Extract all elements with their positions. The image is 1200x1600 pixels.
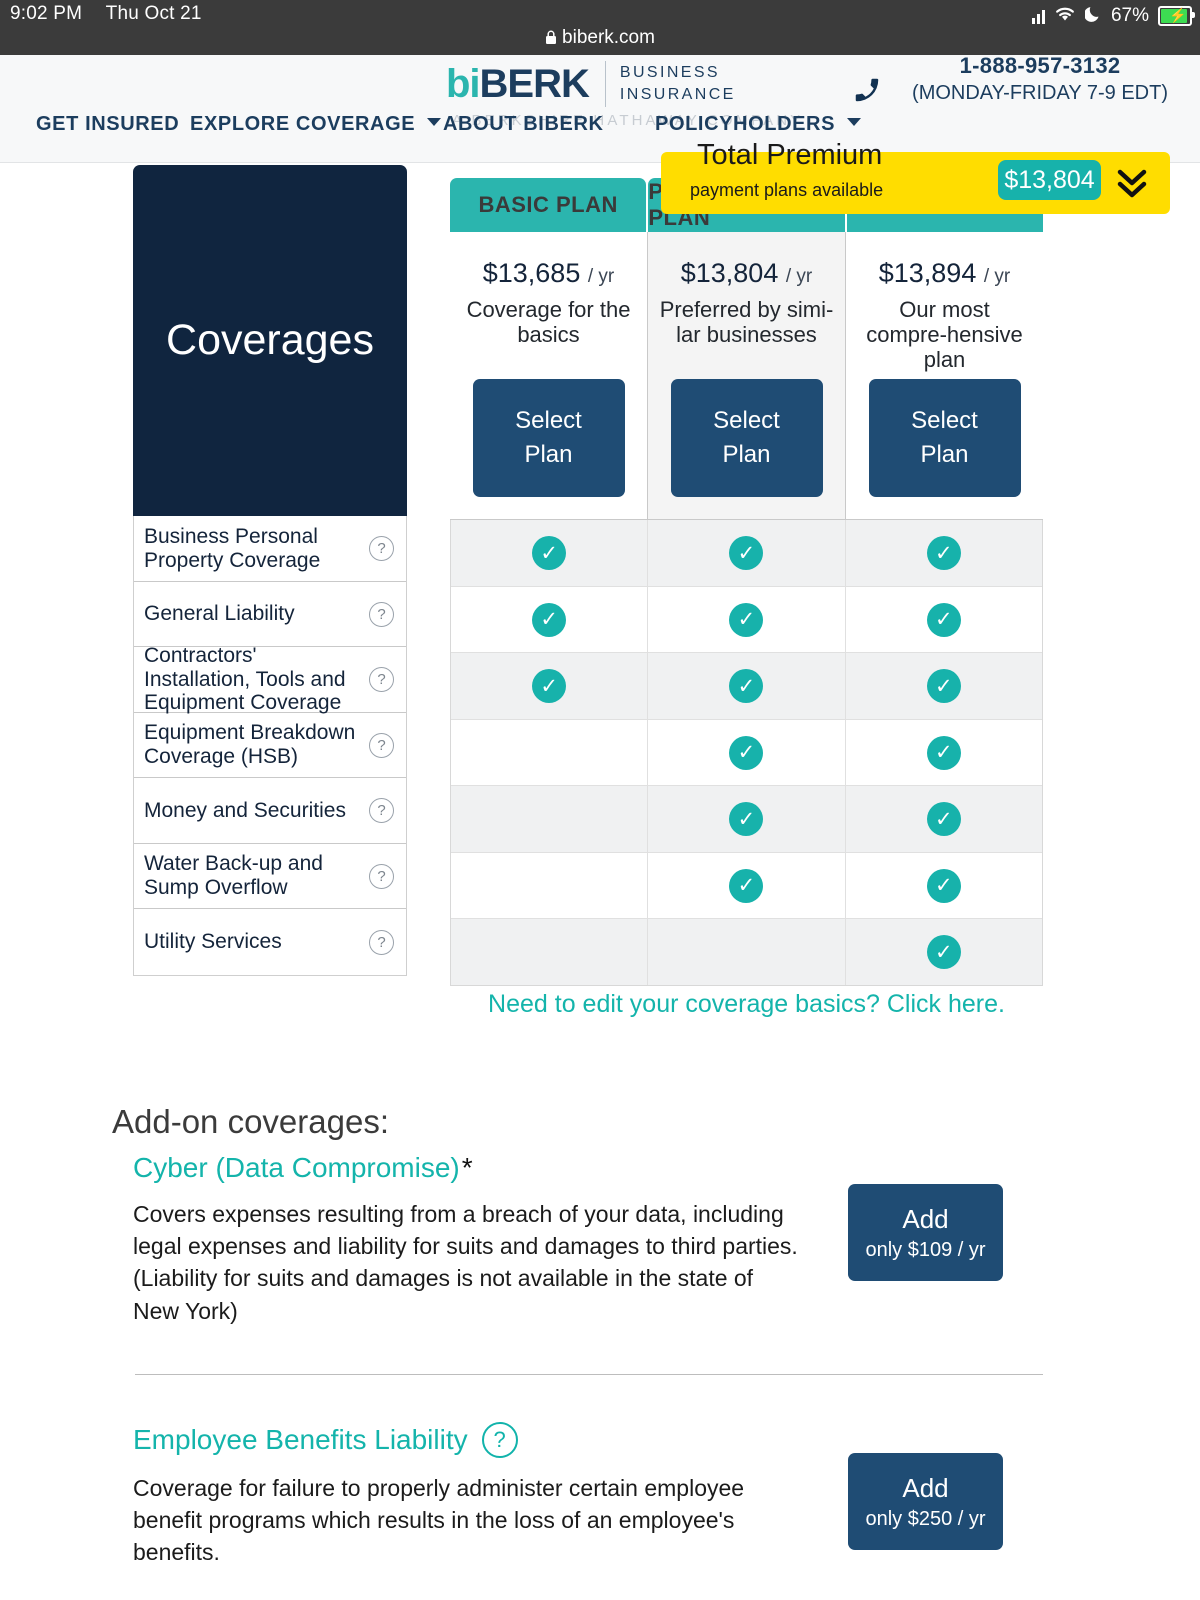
plan-comparison-table: BASIC PLAN PREFERRED PLAN ELITE PLAN $13… bbox=[450, 178, 1043, 986]
addon-employee-benefits-add-price: only $250 / yr bbox=[865, 1508, 985, 1531]
total-premium-title: Total Premium bbox=[697, 139, 882, 172]
logo-berk-text: BERK bbox=[480, 62, 589, 107]
coverage-label: Business Personal Property Coverage bbox=[144, 525, 369, 572]
select-plan-preferred-button[interactable]: Select Plan bbox=[671, 379, 823, 497]
total-premium-subtitle: payment plans available bbox=[690, 180, 883, 201]
chevron-down-icon bbox=[847, 118, 861, 126]
check-icon: ✓ bbox=[927, 802, 961, 836]
coverage-check-cell bbox=[451, 853, 648, 918]
coverage-check-cell: ✓ bbox=[648, 853, 845, 918]
addon-divider bbox=[135, 1374, 1043, 1375]
check-icon: ✓ bbox=[927, 869, 961, 903]
coverage-label: Contractors' Installation, Tools and Equ… bbox=[144, 644, 369, 715]
check-icon: ✓ bbox=[927, 603, 961, 637]
address-bar-url: biberk.com bbox=[562, 27, 655, 48]
check-icon: ✓ bbox=[927, 736, 961, 770]
question-circle-icon[interactable]: ? bbox=[369, 602, 394, 627]
coverage-check-cell: ✓ bbox=[648, 587, 845, 652]
addon-cyber-description: Covers expenses resulting from a breach … bbox=[133, 1198, 803, 1327]
logo-bi-text: bi bbox=[446, 62, 480, 107]
check-icon: ✓ bbox=[532, 536, 566, 570]
plan-price-preferred: $13,804 / yr bbox=[681, 258, 813, 289]
coverage-check-cell: ✓ bbox=[846, 587, 1042, 652]
coverage-check-cell bbox=[451, 786, 648, 852]
lock-icon bbox=[545, 29, 557, 51]
addon-cyber-add-button[interactable]: Add only $109 / yr bbox=[848, 1184, 1003, 1281]
table-row: ✓✓✓ bbox=[451, 520, 1042, 587]
coverage-label: Utility Services bbox=[144, 930, 369, 954]
coverage-label-row: Business Personal Property Coverage? bbox=[134, 516, 406, 582]
total-premium-banner[interactable]: Total Premium payment plans available $1… bbox=[661, 152, 1170, 214]
battery-percent: 67% bbox=[1111, 5, 1149, 27]
nav-item-policyholders-label: POLICYHOLDERS bbox=[655, 113, 835, 135]
signal-bars-icon bbox=[1032, 8, 1045, 24]
nav-item-policyholders[interactable]: POLICYHOLDERS bbox=[655, 113, 861, 136]
coverages-panel: Coverages bbox=[133, 165, 407, 516]
plan-price-preferred-period: / yr bbox=[786, 266, 812, 287]
addon-cyber-name: Cyber (Data Compromise) bbox=[133, 1152, 460, 1184]
table-row: ✓✓ bbox=[451, 853, 1042, 919]
coverage-label-row: Equipment Breakdown Coverage (HSB)? bbox=[134, 713, 406, 778]
coverage-label: Money and Securities bbox=[144, 799, 369, 823]
plan-price-preferred-value: $13,804 bbox=[681, 258, 779, 288]
plan-header-basic[interactable]: BASIC PLAN bbox=[450, 178, 646, 232]
biberk-logo[interactable]: biBERK BUSINESS INSURANCE bbox=[446, 61, 736, 107]
nav-item-about-biberk[interactable]: ABOUT BIBERK bbox=[443, 113, 604, 136]
question-circle-icon[interactable]: ? bbox=[369, 864, 394, 889]
coverage-label: General Liability bbox=[144, 602, 369, 626]
check-icon: ✓ bbox=[927, 536, 961, 570]
coverage-check-cell: ✓ bbox=[846, 786, 1042, 852]
question-circle-icon[interactable]: ? bbox=[369, 930, 394, 955]
table-row: ✓✓ bbox=[451, 786, 1042, 853]
coverage-label: Water Back-up and Sump Overflow bbox=[144, 852, 369, 899]
status-bar: 9:02 PM Thu Oct 21 67% ⚡ biberk.com bbox=[0, 0, 1200, 55]
coverage-label-row: Money and Securities? bbox=[134, 778, 406, 844]
wifi-icon bbox=[1054, 5, 1076, 28]
coverage-check-cell bbox=[451, 919, 648, 985]
plan-price-elite: $13,894 / yr bbox=[879, 258, 1011, 289]
phone-icon bbox=[852, 75, 882, 112]
nav-item-about-biberk-label: ABOUT BIBERK bbox=[443, 113, 604, 135]
question-circle-icon[interactable]: ? bbox=[369, 798, 394, 823]
coverage-label-row: General Liability? bbox=[134, 582, 406, 647]
check-icon: ✓ bbox=[729, 869, 763, 903]
plan-price-basic: $13,685 / yr bbox=[483, 258, 615, 289]
select-plan-basic-button[interactable]: Select Plan bbox=[473, 379, 625, 497]
check-icon: ✓ bbox=[729, 536, 763, 570]
table-row: ✓✓✓ bbox=[451, 587, 1042, 653]
double-chevron-down-icon[interactable] bbox=[1112, 160, 1152, 204]
coverage-label: Equipment Breakdown Coverage (HSB) bbox=[144, 721, 369, 768]
plan-price-elite-value: $13,894 bbox=[879, 258, 977, 288]
plan-column-preferred: $13,804 / yr Preferred by simi-lar busin… bbox=[648, 232, 846, 519]
plan-column-basic: $13,685 / yr Coverage for the basics Sel… bbox=[450, 232, 648, 519]
logo-divider bbox=[605, 61, 606, 107]
coverage-check-cell bbox=[451, 720, 648, 785]
check-icon: ✓ bbox=[532, 669, 566, 703]
check-icon: ✓ bbox=[729, 736, 763, 770]
address-bar[interactable]: biberk.com bbox=[0, 27, 1200, 51]
coverage-label-row: Utility Services? bbox=[134, 909, 406, 975]
logo-subtitle-line1: BUSINESS bbox=[620, 62, 736, 84]
coverage-check-cell: ✓ bbox=[846, 653, 1042, 719]
question-circle-icon[interactable]: ? bbox=[369, 733, 394, 758]
site-header: biBERK BUSINESS INSURANCE A BERKSHIRE HA… bbox=[0, 55, 1200, 163]
nav-item-explore-coverage-label: EXPLORE COVERAGE bbox=[190, 113, 415, 135]
addon-employee-benefits-name: Employee Benefits Liability bbox=[133, 1424, 468, 1456]
coverage-check-cell: ✓ bbox=[451, 587, 648, 652]
plan-column-elite: $13,894 / yr Our most compre-hensive pla… bbox=[846, 232, 1043, 519]
total-premium-amount: $13,804 bbox=[998, 160, 1101, 200]
nav-item-get-insured[interactable]: GET INSURED bbox=[36, 113, 179, 136]
coverage-label-row: Water Back-up and Sump Overflow? bbox=[134, 844, 406, 909]
addon-employee-benefits-description: Coverage for failure to properly adminis… bbox=[133, 1472, 803, 1569]
coverage-check-cell: ✓ bbox=[846, 853, 1042, 918]
addons-section-title: Add-on coverages: bbox=[112, 1103, 389, 1141]
coverage-check-cell: ✓ bbox=[648, 786, 845, 852]
check-icon: ✓ bbox=[927, 669, 961, 703]
moon-icon bbox=[1085, 4, 1102, 28]
plan-blurb-elite: Our most compre-hensive plan bbox=[846, 297, 1043, 372]
question-circle-icon[interactable]: ? bbox=[369, 536, 394, 561]
status-date: Thu Oct 21 bbox=[106, 3, 202, 24]
addon-employee-benefits-add-label: Add bbox=[902, 1473, 948, 1504]
plan-price-basic-value: $13,685 bbox=[483, 258, 581, 288]
check-icon: ✓ bbox=[532, 603, 566, 637]
coverage-check-cell: ✓ bbox=[648, 520, 845, 586]
coverage-label-row: Contractors' Installation, Tools and Equ… bbox=[134, 647, 406, 713]
question-circle-icon[interactable]: ? bbox=[482, 1422, 518, 1458]
coverages-panel-title: Coverages bbox=[166, 316, 374, 365]
chevron-down-icon bbox=[427, 118, 441, 126]
status-bar-left: 9:02 PM Thu Oct 21 bbox=[10, 3, 202, 25]
check-icon: ✓ bbox=[927, 935, 961, 969]
check-icon: ✓ bbox=[729, 802, 763, 836]
select-plan-elite-button[interactable]: Select Plan bbox=[869, 379, 1021, 497]
coverage-check-grid: ✓✓✓✓✓✓✓✓✓✓✓✓✓✓✓✓ bbox=[450, 520, 1043, 986]
coverage-check-cell: ✓ bbox=[648, 720, 845, 785]
nav-item-get-insured-label: GET INSURED bbox=[36, 113, 179, 135]
status-time: 9:02 PM bbox=[10, 3, 82, 24]
addon-employee-benefits-add-button[interactable]: Add only $250 / yr bbox=[848, 1453, 1003, 1550]
phone-hours: (MONDAY-FRIDAY 7-9 EDT) bbox=[912, 82, 1168, 105]
table-row: ✓✓ bbox=[451, 720, 1042, 786]
coverage-check-cell bbox=[648, 919, 845, 985]
coverage-check-cell: ✓ bbox=[648, 653, 845, 719]
nav-item-explore-coverage[interactable]: EXPLORE COVERAGE bbox=[190, 113, 441, 136]
addon-cyber-add-price: only $109 / yr bbox=[865, 1239, 985, 1262]
coverage-check-cell: ✓ bbox=[451, 653, 648, 719]
check-icon: ✓ bbox=[729, 669, 763, 703]
edit-coverage-basics-link[interactable]: Need to edit your coverage basics? Click… bbox=[450, 990, 1043, 1019]
status-bar-right: 67% ⚡ bbox=[1032, 4, 1192, 28]
plan-blurb-preferred: Preferred by simi-lar businesses bbox=[648, 297, 845, 347]
main-nav: GET INSURED EXPLORE COVERAGE ABOUT BIBER… bbox=[0, 103, 1200, 145]
coverage-check-cell: ✓ bbox=[451, 520, 648, 586]
plan-header-basic-label: BASIC PLAN bbox=[478, 192, 617, 218]
coverage-check-cell: ✓ bbox=[846, 919, 1042, 985]
plan-price-basic-period: / yr bbox=[588, 266, 614, 287]
coverage-check-cell: ✓ bbox=[846, 720, 1042, 785]
header-phone[interactable]: 1-888-957-3132 (MONDAY-FRIDAY 7-9 EDT) bbox=[912, 53, 1168, 105]
coverage-check-cell: ✓ bbox=[846, 520, 1042, 586]
phone-number: 1-888-957-3132 bbox=[912, 53, 1168, 79]
plan-price-elite-period: / yr bbox=[984, 266, 1010, 287]
plan-blurb-basic: Coverage for the basics bbox=[450, 297, 647, 347]
addon-cyber-add-label: Add bbox=[902, 1204, 948, 1235]
check-icon: ✓ bbox=[729, 603, 763, 637]
table-row: ✓✓✓ bbox=[451, 653, 1042, 720]
table-row: ✓ bbox=[451, 919, 1042, 985]
battery-charging-icon: ⚡ bbox=[1158, 6, 1192, 26]
plan-summary-row: $13,685 / yr Coverage for the basics Sel… bbox=[450, 232, 1043, 520]
question-circle-icon[interactable]: ? bbox=[369, 667, 394, 692]
addon-cyber-title[interactable]: Cyber (Data Compromise)* bbox=[133, 1152, 1043, 1184]
coverage-label-list: Business Personal Property Coverage?Gene… bbox=[133, 516, 407, 976]
addon-cyber-asterisk: * bbox=[462, 1152, 473, 1184]
logo-subtitle: BUSINESS INSURANCE bbox=[620, 62, 736, 105]
